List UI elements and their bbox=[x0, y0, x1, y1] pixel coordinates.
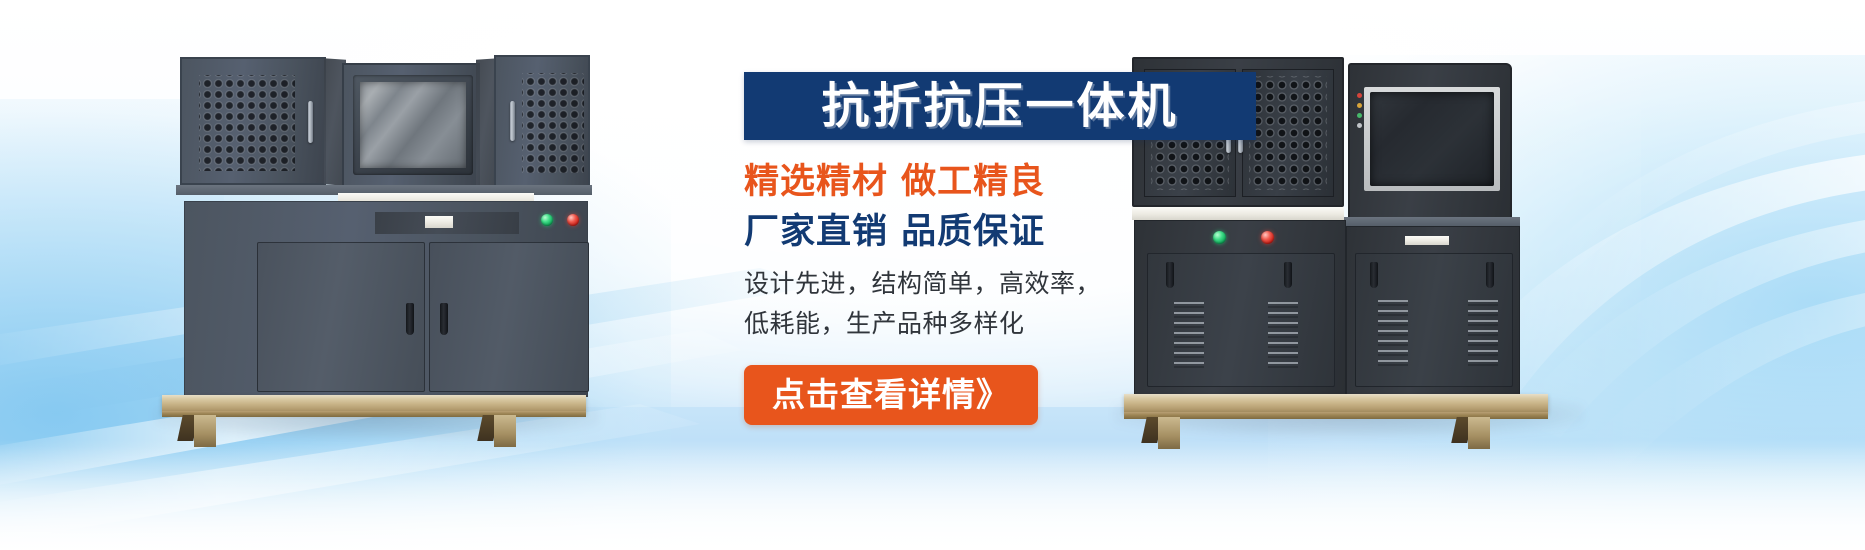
machine-right-mini-led-3 bbox=[1357, 113, 1362, 118]
promo-text-block: 抗折抗压一体机 精选精材 做工精良 厂家直销 品质保证 设计先进，结构简单，高效… bbox=[744, 72, 1284, 492]
machine-left-door-handle-1 bbox=[406, 303, 414, 335]
headline-banner: 抗折抗压一体机 bbox=[744, 72, 1256, 140]
machine-left-pallet-leg-1 bbox=[194, 415, 216, 447]
description-line-2: 低耗能，生产品种多样化 bbox=[744, 305, 1284, 343]
machine-left-door-handle-2 bbox=[440, 303, 448, 335]
machine-right-base-label bbox=[1405, 236, 1449, 245]
machine-left-monitor-screen bbox=[360, 82, 466, 168]
machine-left-cabinet-door-1 bbox=[257, 242, 425, 392]
machine-right-pallet-leg-2 bbox=[1468, 417, 1490, 449]
machine-right-monitor-screen bbox=[1370, 92, 1494, 186]
machine-left-perforation-right bbox=[522, 73, 584, 173]
machine-left-handle-top-left bbox=[308, 101, 313, 143]
tagline-secondary: 厂家直销 品质保证 bbox=[744, 212, 1284, 252]
machine-left-top-left-panel bbox=[180, 57, 326, 185]
machine-left-handle-top-right bbox=[510, 101, 515, 141]
promo-banner: 抗折抗压一体机 精选精材 做工精良 厂家直销 品质保证 设计先进，结构简单，高效… bbox=[0, 0, 1865, 550]
machine-right-vent-4 bbox=[1468, 300, 1498, 366]
machine-left-drawer-label bbox=[425, 216, 453, 228]
machine-right-monitor-frame bbox=[1364, 87, 1500, 191]
machine-right-base-handle-2 bbox=[1284, 262, 1292, 288]
machine-left-monitor-housing bbox=[342, 63, 480, 189]
machine-left-monitor-bezel bbox=[353, 75, 473, 175]
machine-left-perforation-left bbox=[199, 75, 295, 171]
machine-left-pallet-edge bbox=[162, 411, 586, 417]
machine-right-vent-3 bbox=[1378, 300, 1408, 366]
machine-right-mini-led-4 bbox=[1357, 123, 1362, 128]
machine-left-base-cabinet bbox=[184, 201, 588, 397]
headline-title: 抗折抗压一体机 bbox=[821, 82, 1178, 130]
machine-left-indicator-green bbox=[541, 214, 553, 226]
machine-right-mini-led-1 bbox=[1357, 93, 1362, 98]
machine-right-base-right bbox=[1346, 226, 1520, 396]
machine-right-base-handle-3 bbox=[1370, 262, 1378, 288]
machine-left-cabinet-door-2 bbox=[429, 242, 589, 392]
machine-left-top-right-panel bbox=[494, 55, 590, 187]
view-details-button-label: 点击查看详情》 bbox=[772, 378, 1010, 411]
machine-right-mini-led-2 bbox=[1357, 103, 1362, 108]
machine-right-base-door-right bbox=[1355, 253, 1513, 387]
machine-right-monitor-housing bbox=[1348, 63, 1512, 219]
machine-left-pallet-leg-2 bbox=[494, 415, 516, 447]
description-line-1: 设计先进，结构简单，高效率， bbox=[744, 265, 1284, 303]
product-photo-left bbox=[160, 45, 590, 430]
machine-left-indicator-red bbox=[567, 214, 579, 226]
view-details-button[interactable]: 点击查看详情》 bbox=[744, 365, 1038, 425]
machine-right-base-handle-4 bbox=[1486, 262, 1494, 288]
tagline-primary: 精选精材 做工精良 bbox=[744, 162, 1284, 202]
machine-right-tower-ledge bbox=[1344, 217, 1520, 226]
